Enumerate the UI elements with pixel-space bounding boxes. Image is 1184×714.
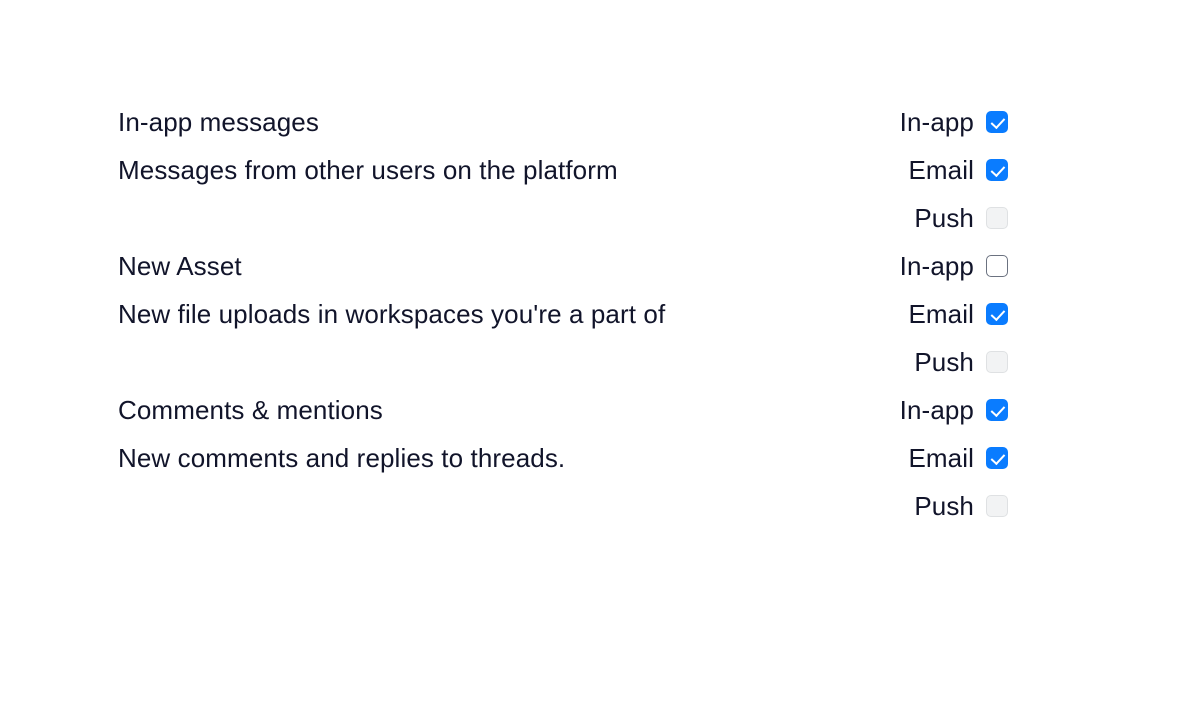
- channel-label-email: Email: [908, 434, 974, 482]
- preference-text-block: New Asset New file uploads in workspaces…: [118, 238, 665, 338]
- channel-label-in-app: In-app: [900, 98, 974, 146]
- preference-text-block: In-app messages Messages from other user…: [118, 94, 618, 194]
- channel-row-in-app: In-app: [868, 386, 1008, 434]
- checkbox-push: [986, 495, 1008, 517]
- notification-preferences-list: In-app messages Messages from other user…: [118, 94, 1008, 526]
- preference-text-block: Comments & mentions New comments and rep…: [118, 382, 565, 482]
- channel-toggle-group: In-app Email Push: [868, 94, 1008, 242]
- channel-label-in-app: In-app: [900, 242, 974, 290]
- preference-row: In-app messages Messages from other user…: [118, 94, 1008, 238]
- channel-row-push: Push: [868, 194, 1008, 242]
- channel-row-email: Email: [868, 290, 1008, 338]
- preference-title: New Asset: [118, 242, 665, 290]
- checkbox-in-app[interactable]: [986, 399, 1008, 421]
- channel-label-push: Push: [914, 338, 974, 386]
- channel-row-email: Email: [868, 146, 1008, 194]
- channel-label-email: Email: [908, 146, 974, 194]
- preference-description: New comments and replies to threads.: [118, 434, 565, 482]
- channel-toggle-group: In-app Email Push: [868, 382, 1008, 530]
- channel-label-push: Push: [914, 482, 974, 530]
- preference-description: New file uploads in workspaces you're a …: [118, 290, 665, 338]
- checkbox-email[interactable]: [986, 303, 1008, 325]
- preference-title: Comments & mentions: [118, 386, 565, 434]
- preference-title: In-app messages: [118, 98, 618, 146]
- channel-row-email: Email: [868, 434, 1008, 482]
- checkbox-push: [986, 351, 1008, 373]
- preference-row: Comments & mentions New comments and rep…: [118, 382, 1008, 526]
- channel-row-in-app: In-app: [868, 242, 1008, 290]
- checkbox-email[interactable]: [986, 159, 1008, 181]
- channel-label-push: Push: [914, 194, 974, 242]
- channel-label-email: Email: [908, 290, 974, 338]
- preference-description: Messages from other users on the platfor…: [118, 146, 618, 194]
- channel-row-push: Push: [868, 482, 1008, 530]
- checkbox-in-app[interactable]: [986, 111, 1008, 133]
- channel-toggle-group: In-app Email Push: [868, 238, 1008, 386]
- channel-row-push: Push: [868, 338, 1008, 386]
- checkbox-in-app[interactable]: [986, 255, 1008, 277]
- preference-row: New Asset New file uploads in workspaces…: [118, 238, 1008, 382]
- checkbox-push: [986, 207, 1008, 229]
- channel-label-in-app: In-app: [900, 386, 974, 434]
- checkbox-email[interactable]: [986, 447, 1008, 469]
- channel-row-in-app: In-app: [868, 98, 1008, 146]
